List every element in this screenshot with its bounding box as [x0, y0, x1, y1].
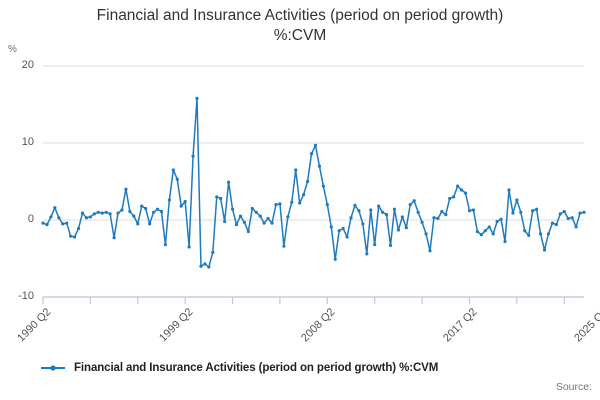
data-series-group	[41, 97, 585, 269]
y-axis-tick-label: -10	[0, 290, 34, 302]
legend-line-marker-icon	[40, 362, 66, 374]
chart-container: Financial and Insurance Activities (peri…	[0, 0, 600, 400]
source-note: Source:	[556, 381, 592, 393]
x-axis-ticks	[43, 297, 564, 304]
chart-legend[interactable]: Financial and Insurance Activities (peri…	[40, 362, 438, 374]
y-axis-tick-label: 20	[0, 59, 34, 71]
gridlines	[43, 66, 584, 297]
y-axis-tick-label: 10	[0, 136, 34, 148]
y-axis-tick-label: 0	[0, 213, 34, 225]
legend-label: Financial and Insurance Activities (peri…	[74, 362, 438, 374]
